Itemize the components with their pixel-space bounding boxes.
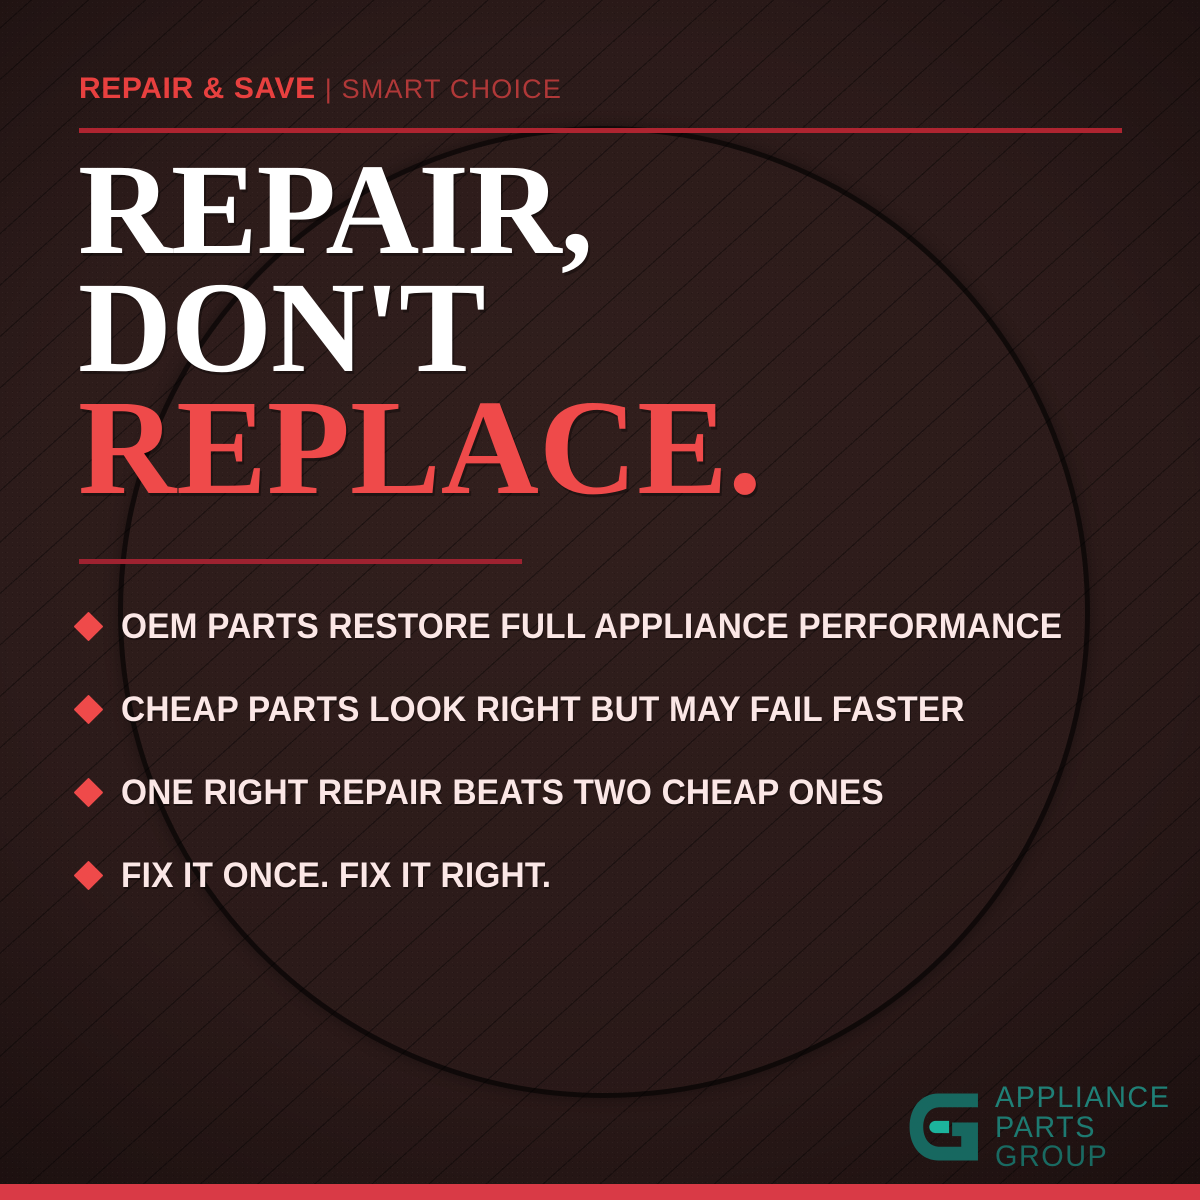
brand-logo-wordmark: APPLIANCE PARTS GROUP [995, 1083, 1178, 1172]
list-item-label: CHEAP PARTS LOOK RIGHT BUT MAY FAIL FAST… [121, 690, 965, 730]
eyebrow-sub-text: | SMART CHOICE [325, 74, 562, 104]
header-divider-rule [79, 128, 1122, 133]
diamond-bullet-icon [74, 612, 104, 642]
list-item: FIX IT ONCE. FIX IT RIGHT. [78, 834, 1158, 917]
bullet-list-divider-rule [79, 559, 522, 564]
eyebrow-main-text: REPAIR & SAVE [79, 72, 316, 105]
list-item: CHEAP PARTS LOOK RIGHT BUT MAY FAIL FAST… [78, 668, 1158, 751]
list-item-label: ONE RIGHT REPAIR BEATS TWO CHEAP ONES [121, 773, 884, 813]
list-item-label: OEM PARTS RESTORE FULL APPLIANCE PERFORM… [121, 607, 1062, 647]
list-item-label: FIX IT ONCE. FIX IT RIGHT. [121, 856, 551, 896]
bullet-list: OEM PARTS RESTORE FULL APPLIANCE PERFORM… [78, 585, 1158, 917]
headline-block: REPAIR, DON'T REPLACE. [78, 152, 1138, 510]
bottom-accent-bar [0, 1184, 1200, 1200]
headline-line-1: REPAIR, [78, 152, 1138, 270]
brand-word-appliance: APPLIANCE [995, 1083, 1171, 1113]
list-item: ONE RIGHT REPAIR BEATS TWO CHEAP ONES [78, 751, 1158, 834]
brand-word-parts: PARTS [995, 1113, 1171, 1143]
headline-line-3: REPLACE. [78, 387, 1138, 510]
letter-g-logo-icon [905, 1089, 981, 1165]
list-item: OEM PARTS RESTORE FULL APPLIANCE PERFORM… [78, 585, 1158, 668]
eyebrow-heading: REPAIR & SAVE| SMART CHOICE [79, 74, 562, 104]
brand-word-group: GROUP [995, 1142, 1171, 1172]
brand-logo: APPLIANCE PARTS GROUP [905, 1083, 1178, 1172]
diamond-bullet-icon [74, 861, 104, 891]
headline-line-2: DON'T [78, 270, 1138, 388]
diamond-bullet-icon [74, 778, 104, 808]
diamond-bullet-icon [74, 695, 104, 725]
poster-canvas: REPAIR & SAVE| SMART CHOICE REPAIR, DON'… [0, 0, 1200, 1200]
poster-content: REPAIR & SAVE| SMART CHOICE REPAIR, DON'… [0, 0, 1200, 1200]
